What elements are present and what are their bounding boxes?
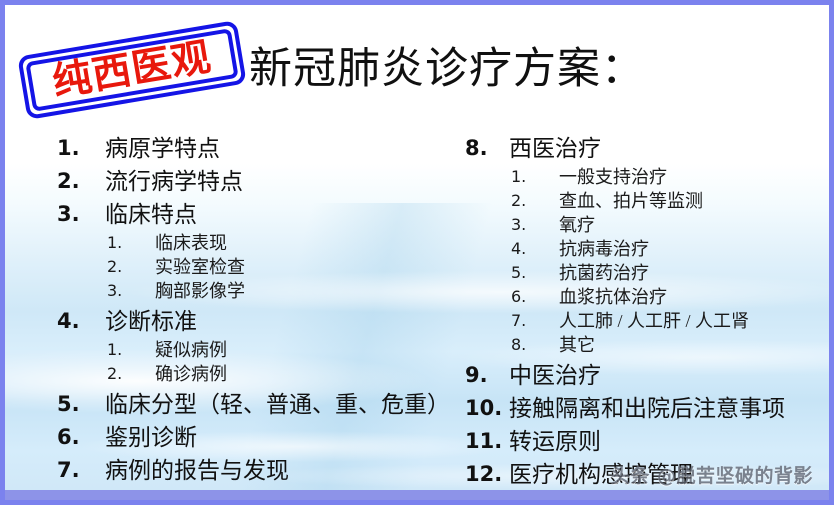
outline-subitem-label: 氧疗 bbox=[559, 215, 595, 235]
outline-subitem-label: 查血、拍片等监测 bbox=[559, 191, 703, 211]
outline-item-number: 6. bbox=[57, 422, 91, 453]
outline-subitem-label: 疑似病例 bbox=[155, 340, 227, 360]
outline-subitem-number: 8. bbox=[511, 333, 537, 357]
outline-item-number: 7. bbox=[57, 455, 91, 486]
outline-subitem: 1.一般支持治疗 bbox=[509, 165, 834, 189]
watermark-text: 头条 @脱苦坚破的背影 bbox=[611, 461, 813, 488]
outline-subitem-number: 2. bbox=[107, 362, 133, 386]
outline-item-number: 8. bbox=[465, 133, 503, 164]
slide-header: 纯西医观 新冠肺炎诊疗方案： bbox=[5, 5, 829, 133]
outline-item: 9.中医治疗 bbox=[465, 360, 834, 391]
outline-item-label: 临床特点 bbox=[105, 202, 197, 227]
outline-list-right: 8.西医治疗1.一般支持治疗2.查血、拍片等监测3.氧疗4.抗病毒治疗5.抗菌药… bbox=[465, 133, 834, 490]
outline-item-number: 2. bbox=[57, 166, 91, 197]
outline-subitem: 6.血浆抗体治疗 bbox=[509, 285, 834, 309]
outline-subitem-number: 1. bbox=[107, 338, 133, 362]
stamp-badge: 纯西医观 bbox=[17, 20, 247, 120]
outline-subitem-label: 人工肺 / 人工肝 / 人工肾 bbox=[559, 311, 749, 331]
outline-subitem-label: 血浆抗体治疗 bbox=[559, 287, 667, 307]
outline-item-number: 3. bbox=[57, 199, 91, 230]
outline-item-number: 9. bbox=[465, 360, 503, 391]
outline-subitem-number: 2. bbox=[107, 255, 133, 279]
outline-item-number: 4. bbox=[57, 306, 91, 337]
outline-subitem-number: 2. bbox=[511, 189, 537, 213]
outline-subitem: 2.确诊病例 bbox=[105, 362, 447, 386]
page-title: 新冠肺炎诊疗方案： bbox=[249, 45, 645, 94]
outline-subitem-number: 3. bbox=[107, 279, 133, 303]
outline-subitem-label: 临床表现 bbox=[155, 233, 227, 253]
outline-item: 3.临床特点1.临床表现2.实验室检查3.胸部影像学 bbox=[57, 199, 447, 303]
outline-item-number: 12. bbox=[465, 459, 503, 490]
outline-item-label: 中医治疗 bbox=[509, 363, 601, 388]
outline-item-label: 临床分型（轻、普通、重、危重） bbox=[105, 392, 450, 417]
outline-subitem-label: 抗菌药治疗 bbox=[559, 263, 649, 283]
outline-subitem-label: 抗病毒治疗 bbox=[559, 239, 649, 259]
outline-subitem: 1.疑似病例 bbox=[105, 338, 447, 362]
outline-item: 11.转运原则 bbox=[465, 426, 834, 457]
outline-subitem-number: 1. bbox=[107, 231, 133, 255]
outline-item: 7.病例的报告与发现 bbox=[57, 455, 447, 486]
outline-item-label: 病原学特点 bbox=[105, 136, 220, 161]
outline-item-label: 西医治疗 bbox=[509, 136, 601, 161]
outline-subitem-label: 实验室检查 bbox=[155, 257, 245, 277]
outline-subitem: 2.实验室检查 bbox=[105, 255, 447, 279]
outline-item: 6.鉴别诊断 bbox=[57, 422, 447, 453]
outline-sublist: 1.一般支持治疗2.查血、拍片等监测3.氧疗4.抗病毒治疗5.抗菌药治疗6.血浆… bbox=[509, 165, 834, 357]
outline-sublist: 1.临床表现2.实验室检查3.胸部影像学 bbox=[105, 231, 447, 303]
outline-subitem-number: 4. bbox=[511, 237, 537, 261]
outline-subitem-number: 7. bbox=[511, 309, 537, 333]
outline-subitem: 7.人工肺 / 人工肝 / 人工肾 bbox=[509, 309, 834, 333]
outline-item-label: 转运原则 bbox=[509, 429, 601, 454]
outline-subitem-label: 其它 bbox=[559, 335, 595, 355]
outline-item-label: 流行病学特点 bbox=[105, 169, 243, 194]
outline-item-number: 10. bbox=[465, 393, 503, 424]
outline-item: 10.接触隔离和出院后注意事项 bbox=[465, 393, 834, 424]
outline-subitem-label: 确诊病例 bbox=[155, 364, 227, 384]
outline-subitem-label: 胸部影像学 bbox=[155, 281, 245, 301]
outline-item-number: 1. bbox=[57, 133, 91, 164]
outline-item: 2.流行病学特点 bbox=[57, 166, 447, 197]
outline-subitem-number: 6. bbox=[511, 285, 537, 309]
outline-subitem: 3.胸部影像学 bbox=[105, 279, 447, 303]
outline-item: 1.病原学特点 bbox=[57, 133, 447, 164]
outline-subitem: 2.查血、拍片等监测 bbox=[509, 189, 834, 213]
outline-sublist: 1.疑似病例2.确诊病例 bbox=[105, 338, 447, 386]
slide-canvas: 纯西医观 新冠肺炎诊疗方案： 1.病原学特点2.流行病学特点3.临床特点1.临床… bbox=[0, 0, 834, 505]
outline-item-label: 鉴别诊断 bbox=[105, 425, 197, 450]
outline-subitem: 8.其它 bbox=[509, 333, 834, 357]
outline-subitem: 4.抗病毒治疗 bbox=[509, 237, 834, 261]
outline-list-left: 1.病原学特点2.流行病学特点3.临床特点1.临床表现2.实验室检查3.胸部影像… bbox=[57, 133, 447, 486]
outline-item-number: 11. bbox=[465, 426, 503, 457]
outline-subitem: 3.氧疗 bbox=[509, 213, 834, 237]
outline-item: 5.临床分型（轻、普通、重、危重） bbox=[57, 389, 447, 420]
outline-subitem-label: 一般支持治疗 bbox=[559, 167, 667, 187]
outline-item: 8.西医治疗1.一般支持治疗2.查血、拍片等监测3.氧疗4.抗病毒治疗5.抗菌药… bbox=[465, 133, 834, 357]
outline-column-right: 8.西医治疗1.一般支持治疗2.查血、拍片等监测3.氧疗4.抗病毒治疗5.抗菌药… bbox=[465, 133, 834, 492]
outline-subitem: 5.抗菌药治疗 bbox=[509, 261, 834, 285]
outline-subitem: 1.临床表现 bbox=[105, 231, 447, 255]
outline-subitem-number: 5. bbox=[511, 261, 537, 285]
outline-subitem-number: 3. bbox=[511, 213, 537, 237]
outline-column-left: 1.病原学特点2.流行病学特点3.临床特点1.临床表现2.实验室检查3.胸部影像… bbox=[57, 133, 447, 488]
outline-item-label: 接触隔离和出院后注意事项 bbox=[509, 396, 785, 421]
outline-item: 4.诊断标准1.疑似病例2.确诊病例 bbox=[57, 306, 447, 386]
outline-item-number: 5. bbox=[57, 389, 91, 420]
outline-subitem-number: 1. bbox=[511, 165, 537, 189]
outline-item-label: 病例的报告与发现 bbox=[105, 458, 289, 483]
outline-item-label: 诊断标准 bbox=[105, 309, 197, 334]
